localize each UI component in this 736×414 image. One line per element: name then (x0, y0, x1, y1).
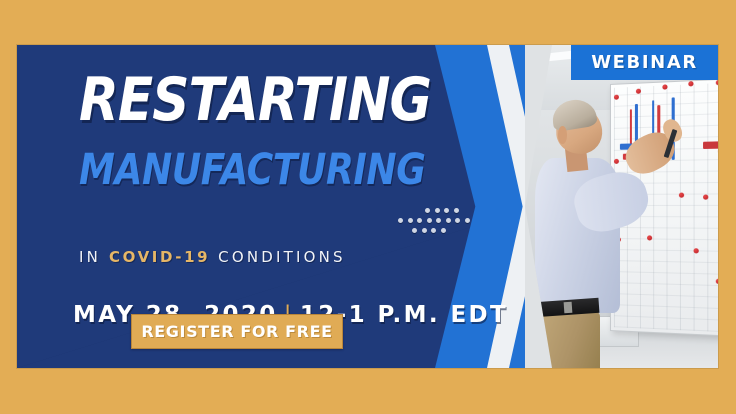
webinar-badge-label: WEBINAR (591, 52, 698, 73)
dot-row-top (425, 208, 459, 213)
subline-suffix: CONDITIONS (218, 248, 346, 266)
register-button[interactable]: REGISTER FOR FREE (131, 314, 343, 349)
person-trousers (531, 310, 600, 368)
webinar-banner: WEBINAR RESTARTING MANUFACTURING IN COVI… (0, 0, 736, 414)
subline-highlight: COVID-19 (109, 248, 210, 266)
person-belt-buckle (563, 302, 571, 314)
webinar-badge: WEBINAR (571, 45, 718, 80)
headline-primary: RESTARTING (79, 70, 431, 130)
banner-card: WEBINAR RESTARTING MANUFACTURING IN COVI… (17, 45, 718, 368)
photo-clip (525, 45, 718, 368)
headline-secondary: MANUFACTURING (79, 149, 425, 192)
person-figure (525, 45, 718, 368)
register-button-label: REGISTER FOR FREE (141, 322, 332, 341)
dot-row-bottom (412, 228, 446, 233)
dot-row-middle (398, 218, 470, 223)
dotted-arrow-decoration (398, 208, 476, 238)
subline-prefix: IN (79, 248, 101, 266)
photo-panel (525, 45, 718, 368)
subline: IN COVID-19 CONDITIONS (79, 248, 346, 266)
person-ear (558, 126, 568, 144)
banner-text-block: RESTARTING MANUFACTURING IN COVID-19 CON… (17, 45, 487, 368)
